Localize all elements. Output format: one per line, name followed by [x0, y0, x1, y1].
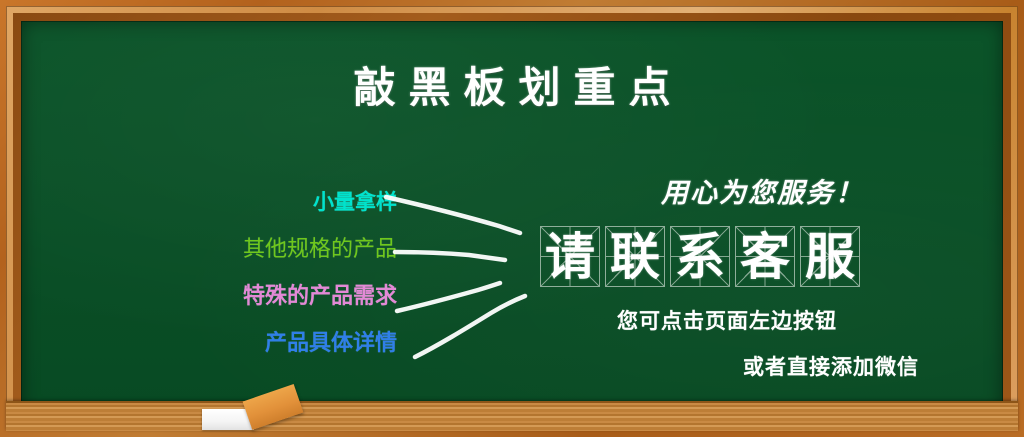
grid-cell-2: 联 [605, 226, 665, 287]
stroke-3 [397, 283, 500, 311]
grid-char-lian: 联 [610, 232, 660, 282]
list-item-other-specs: 其他规格的产品 [21, 226, 397, 273]
list-item-sampling: 小量拿样 [21, 179, 397, 226]
grid-cell-1: 请 [540, 226, 600, 287]
list-item-special-needs: 特殊的产品需求 [21, 273, 397, 320]
list-item-product-details: 产品具体详情 [21, 320, 397, 367]
grid-char-ke: 客 [740, 232, 790, 282]
blackboard-surface: 敲黑板划重点 小量拿样 其他规格的产品 特殊的产品需求 产品具体详情 用心为您服… [21, 21, 1003, 416]
grid-char-xi: 系 [675, 232, 725, 282]
grid-cell-4: 客 [735, 226, 795, 287]
stroke-1 [386, 197, 520, 233]
chalk-ledge [6, 401, 1018, 431]
contact-service-grid: 请 联 系 客 服 [540, 226, 860, 287]
note-add-wechat: 或者直接添加微信 [743, 351, 919, 381]
note-left-button: 您可点击页面左边按钮 [617, 305, 837, 335]
grid-cell-3: 系 [670, 226, 730, 287]
stroke-4 [415, 296, 525, 357]
grid-cell-5: 服 [800, 226, 860, 287]
grid-char-qing: 请 [545, 232, 595, 282]
left-topic-list: 小量拿样 其他规格的产品 特殊的产品需求 产品具体详情 [21, 179, 397, 367]
service-slogan: 用心为您服务！ [661, 171, 864, 210]
page-title: 敲黑板划重点 [21, 54, 1003, 115]
grid-char-fu: 服 [805, 232, 855, 282]
stroke-2 [395, 252, 505, 260]
chalkboard-poster: 敲黑板划重点 小量拿样 其他规格的产品 特殊的产品需求 产品具体详情 用心为您服… [0, 0, 1024, 437]
